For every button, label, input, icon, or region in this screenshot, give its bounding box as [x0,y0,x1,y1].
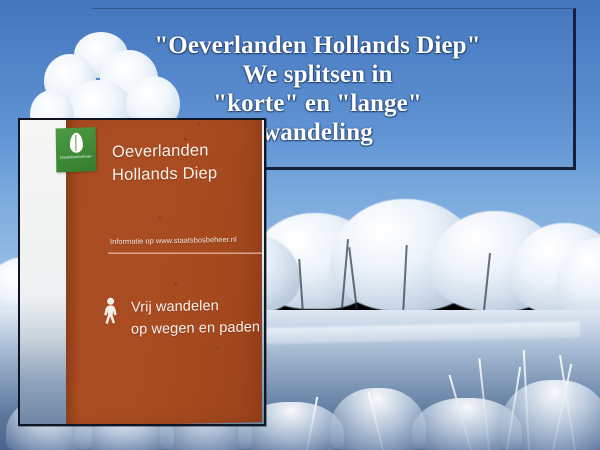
sign-rule-text: Vrij wandelen op wegen en paden [131,294,260,341]
leaf-icon [69,133,82,153]
title-line-2: We splitsen in [154,60,480,89]
staatsbosbeheer-logo: staatsbosbeheer [56,127,97,172]
logo-wordmark: staatsbosbeheer [60,154,92,160]
sign-heading-line-2: Hollands Diep [112,163,217,188]
sign-divider [108,253,266,254]
title-line-1: "Oeverlanden Hollands Diep" [154,31,480,60]
title-line-3: "korte" en "lange" [154,89,480,118]
sign-heading: Oeverlanden Hollands Diep [112,139,217,188]
slide-canvas: "Oeverlanden Hollands Diep" We splitsen … [0,0,600,450]
sign-rule-line-2: op wegen en paden [131,317,260,342]
sign-rule-line-1: Vrij wandelen [131,294,260,319]
information-sign-panel: staatsbosbeheer Oeverlanden Hollands Die… [66,118,262,426]
sign-info-line: Informatie op www.staatsbosbeheer.nl [110,235,237,246]
inset-sign-photo: staatsbosbeheer Oeverlanden Hollands Die… [18,118,266,426]
pedestrian-walking-icon [102,297,119,331]
sign-heading-line-1: Oeverlanden [112,139,217,164]
sign-walking-rule: Vrij wandelen op wegen en paden [102,294,260,342]
